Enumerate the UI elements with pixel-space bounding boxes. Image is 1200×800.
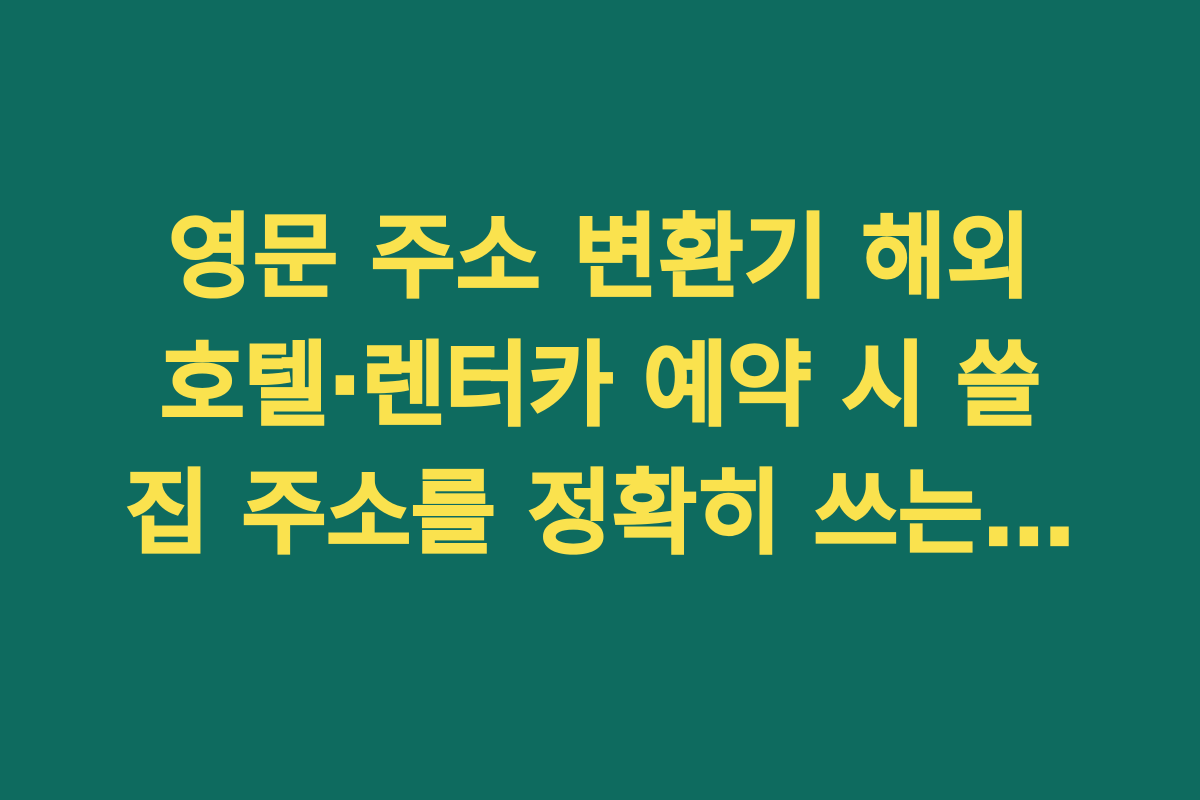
thumbnail-card: 영문 주소 변환기 해외 호텔·렌터카 예약 시 쓸 집 주소를 정확히 쓰는… <box>0 0 1200 800</box>
headline-line-1: 영문 주소 변환기 해외 <box>95 194 1105 322</box>
headline-line-2: 호텔·렌터카 예약 시 쓸 <box>95 322 1105 450</box>
headline-line-3: 집 주소를 정확히 쓰는… <box>95 450 1105 578</box>
headline-block: 영문 주소 변환기 해외 호텔·렌터카 예약 시 쓸 집 주소를 정확히 쓰는… <box>95 194 1105 578</box>
